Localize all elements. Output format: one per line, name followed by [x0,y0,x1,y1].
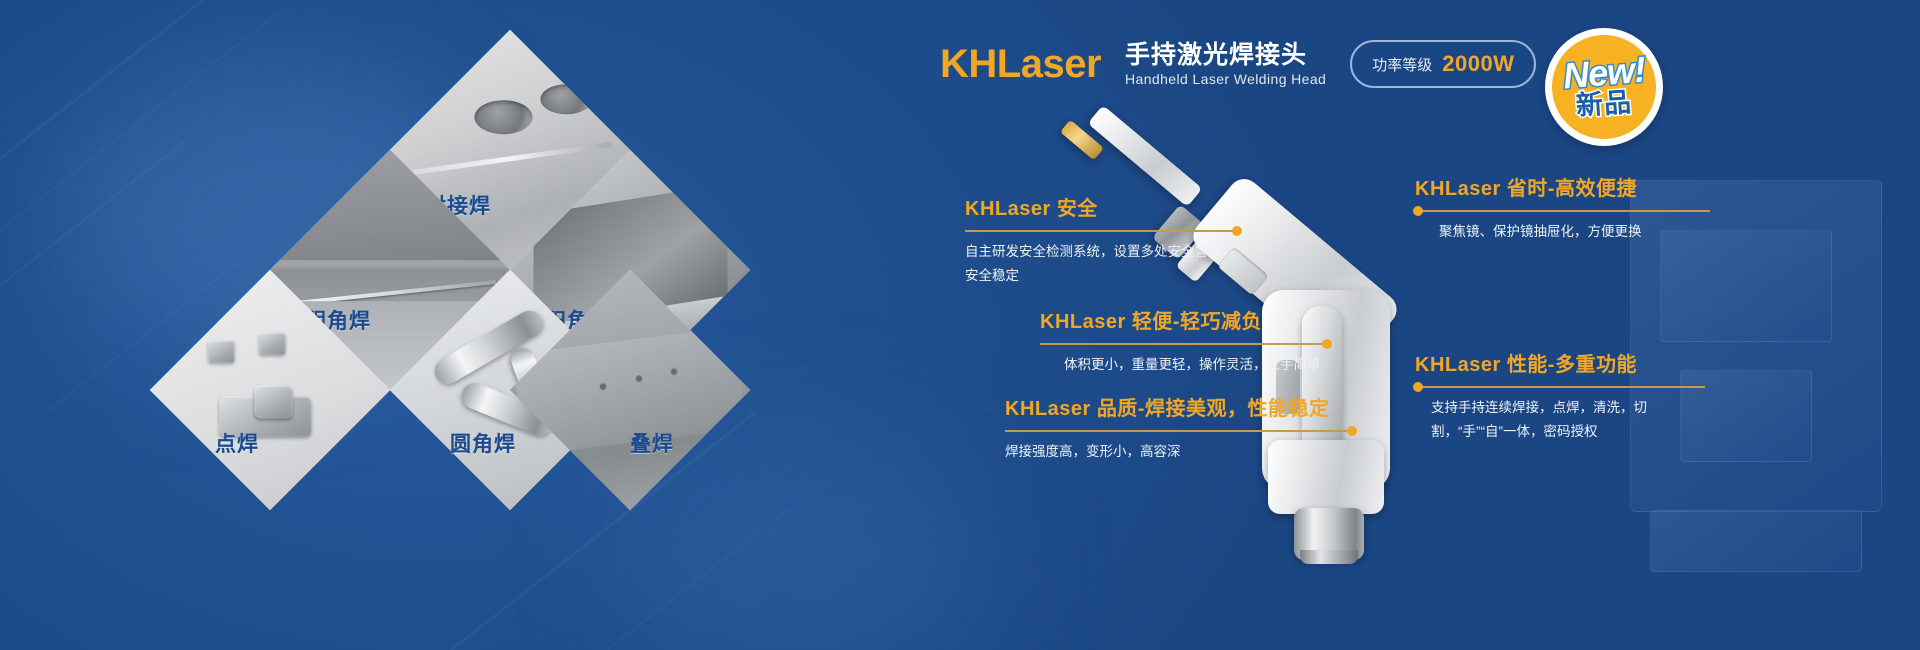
feature-title-safety: KHLaser 安全 [965,192,1240,221]
feature-title-quality: KHLaser 品质-焊接美观，性能稳定 [1005,392,1355,421]
product-title-en: Handheld Laser Welding Head [1125,72,1326,88]
banner-header: KHLaser 手持激光焊接头 Handheld Laser Welding H… [940,40,1536,88]
feature-callout-quality: KHLaser 品质-焊接美观，性能稳定 焊接强度高，变形小，高容深 [1005,392,1355,464]
feature-rule [1415,386,1705,388]
new-badge-text-cn: 新品 [1575,89,1633,120]
feature-callout-lightweight: KHLaser 轻便-轻巧减负 体积更小，重量更轻，操作灵活，上手简单 [1040,305,1330,377]
power-rating-value: 2000W [1442,51,1514,77]
feature-title-lightweight: KHLaser 轻便-轻巧减负 [1040,305,1330,334]
weld-label-fillet-weld: 圆角焊 [450,428,516,458]
feature-desc-time-saving: 聚焦镜、保护镜抽屉化，方便更换 [1415,220,1710,244]
power-rating-badge: 功率等级 2000W [1350,40,1536,88]
feature-rule [965,230,1240,232]
rule-dot [1413,206,1423,216]
product-title-block: 手持激光焊接头 Handheld Laser Welding Head [1125,41,1326,88]
rule-dot [1232,226,1242,236]
feature-rule [1005,430,1355,432]
rule-dot [1413,382,1423,392]
feature-desc-lightweight: 体积更小，重量更轻，操作灵活，上手简单 [1040,353,1330,377]
feature-desc-performance: 支持手持连续焊接，点焊，清洗，切割，“手”“自”一体，密码授权 [1415,396,1705,443]
promo-banner: 对接焊 阴角焊 阳角焊 点焊 [0,0,1920,650]
power-rating-label: 功率等级 [1372,54,1432,75]
feature-callout-performance: KHLaser 性能-多重功能 支持手持连续焊接，点焊，清洗，切割，“手”“自”… [1415,348,1705,443]
weld-label-spot-weld: 点焊 [215,428,259,458]
rule-dot [1322,339,1332,349]
feature-desc-quality: 焊接强度高，变形小，高容深 [1005,440,1355,464]
brand-logo: KHLaser [940,44,1101,84]
feature-rule [1040,343,1330,345]
new-badge-text-en: New! [1562,52,1647,93]
feature-desc-safety: 自主研发安全检测系统，设置多处安全警报，安全稳定 [965,240,1240,287]
feature-title-performance: KHLaser 性能-多重功能 [1415,348,1705,377]
chrome-nozzle-ring [1300,550,1358,564]
feature-title-time-saving: KHLaser 省时-高效便捷 [1415,172,1710,201]
feature-callout-safety: KHLaser 安全 自主研发安全检测系统，设置多处安全警报，安全稳定 [965,192,1240,287]
weld-label-lap-weld: 叠焊 [630,428,674,458]
weld-type-gallery: 对接焊 阴角焊 阳角焊 点焊 [120,10,820,640]
feature-rule [1415,210,1710,212]
feature-callout-time-saving: KHLaser 省时-高效便捷 聚焦镜、保护镜抽屉化，方便更换 [1415,172,1710,244]
rule-dot [1347,426,1357,436]
product-title-cn: 手持激光焊接头 [1125,41,1326,69]
